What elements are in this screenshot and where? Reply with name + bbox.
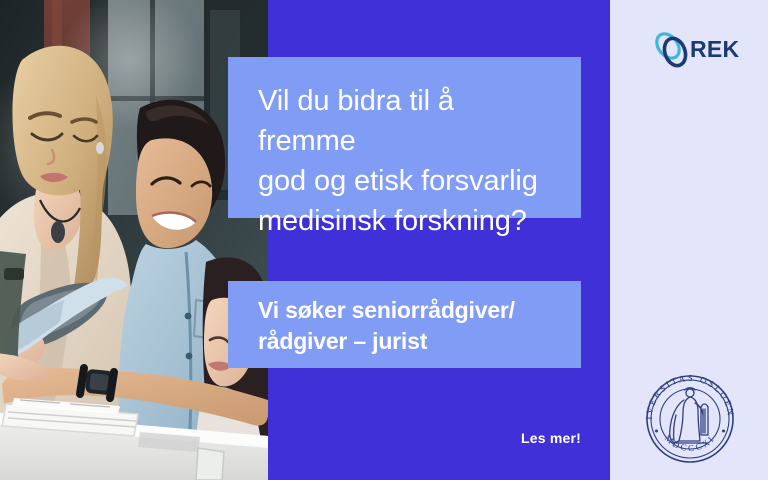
- headline-text: Vil du bidra til å fremme god og etisk f…: [258, 81, 551, 241]
- svg-text:UNIVERSITAS OSLOENSIS: UNIVERSITAS OSLOENSIS: [638, 367, 736, 420]
- job-title-box: Vi søker seniorrådgiver/ rådgiver – juri…: [228, 281, 581, 368]
- rek-interlocking-rings-icon: [650, 27, 694, 71]
- headline-box: Vil du bidra til å fremme god og etisk f…: [228, 57, 581, 218]
- job-title-text: Vi søker seniorrådgiver/ rådgiver – juri…: [258, 295, 551, 357]
- read-more-link[interactable]: Les mer!: [419, 430, 581, 446]
- uio-seal: UNIVERSITAS OSLOENSIS MDCCCXI: [638, 367, 742, 471]
- rek-wordmark: REK: [690, 36, 739, 63]
- recruitment-banner: Vil du bidra til å fremme god og etisk f…: [0, 0, 768, 480]
- rek-logo[interactable]: REK: [650, 26, 746, 72]
- uio-seal-icon: UNIVERSITAS OSLOENSIS MDCCCXI: [638, 367, 742, 471]
